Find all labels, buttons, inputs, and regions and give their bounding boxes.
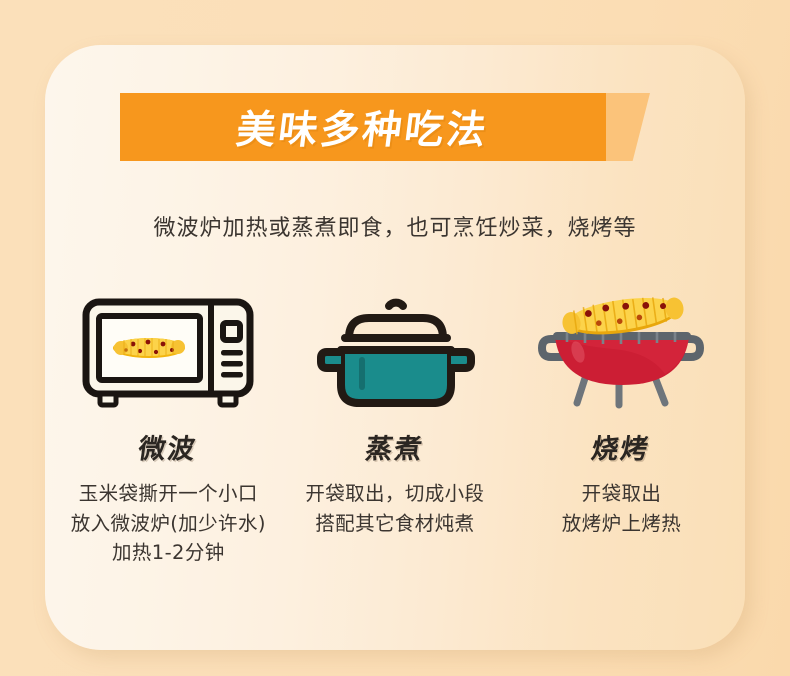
method-column-microwave: 微波 玉米袋撕开一个小口 放入微波炉(加少许水) 加热1-2分钟 [55,290,282,568]
method-desc-microwave: 玉米袋撕开一个小口 放入微波炉(加少许水) 加热1-2分钟 [71,479,266,568]
content-card: 美味多种吃法 微波炉加热或蒸煮即食，也可烹饪炒菜，烧烤等 [45,45,745,650]
desc-line: 玉米袋撕开一个小口 [71,479,266,509]
desc-line: 加热1-2分钟 [71,538,266,568]
subtitle-text: 微波炉加热或蒸煮即食，也可烹饪炒菜，烧烤等 [45,210,745,242]
corn-cob-microwave-icon [113,338,185,358]
bbq-grill-icon [531,290,711,415]
desc-line: 开袋取出，切成小段 [305,479,484,509]
desc-line: 搭配其它食材炖煮 [305,509,484,539]
microwave-icon [78,290,258,415]
desc-line: 放入微波炉(加少许水) [71,509,266,539]
method-column-bbq: 烧烤 开袋取出 放烤炉上烤热 [508,290,735,568]
steamer-pot-icon [305,290,485,415]
desc-line: 开袋取出 [562,479,681,509]
method-label-microwave: 微波 [137,427,200,466]
method-label-steam: 蒸煮 [363,427,426,466]
method-desc-bbq: 开袋取出 放烤炉上烤热 [562,479,681,538]
method-label-bbq: 烧烤 [590,427,653,466]
banner: 美味多种吃法 [120,93,650,161]
method-column-steam: 蒸煮 开袋取出，切成小段 搭配其它食材炖煮 [282,290,509,568]
banner-title: 美味多种吃法 [116,93,610,161]
methods-row: 微波 玉米袋撕开一个小口 放入微波炉(加少许水) 加热1-2分钟 [55,290,735,568]
desc-line: 放烤炉上烤热 [562,509,681,539]
method-desc-steam: 开袋取出，切成小段 搭配其它食材炖煮 [305,479,484,538]
